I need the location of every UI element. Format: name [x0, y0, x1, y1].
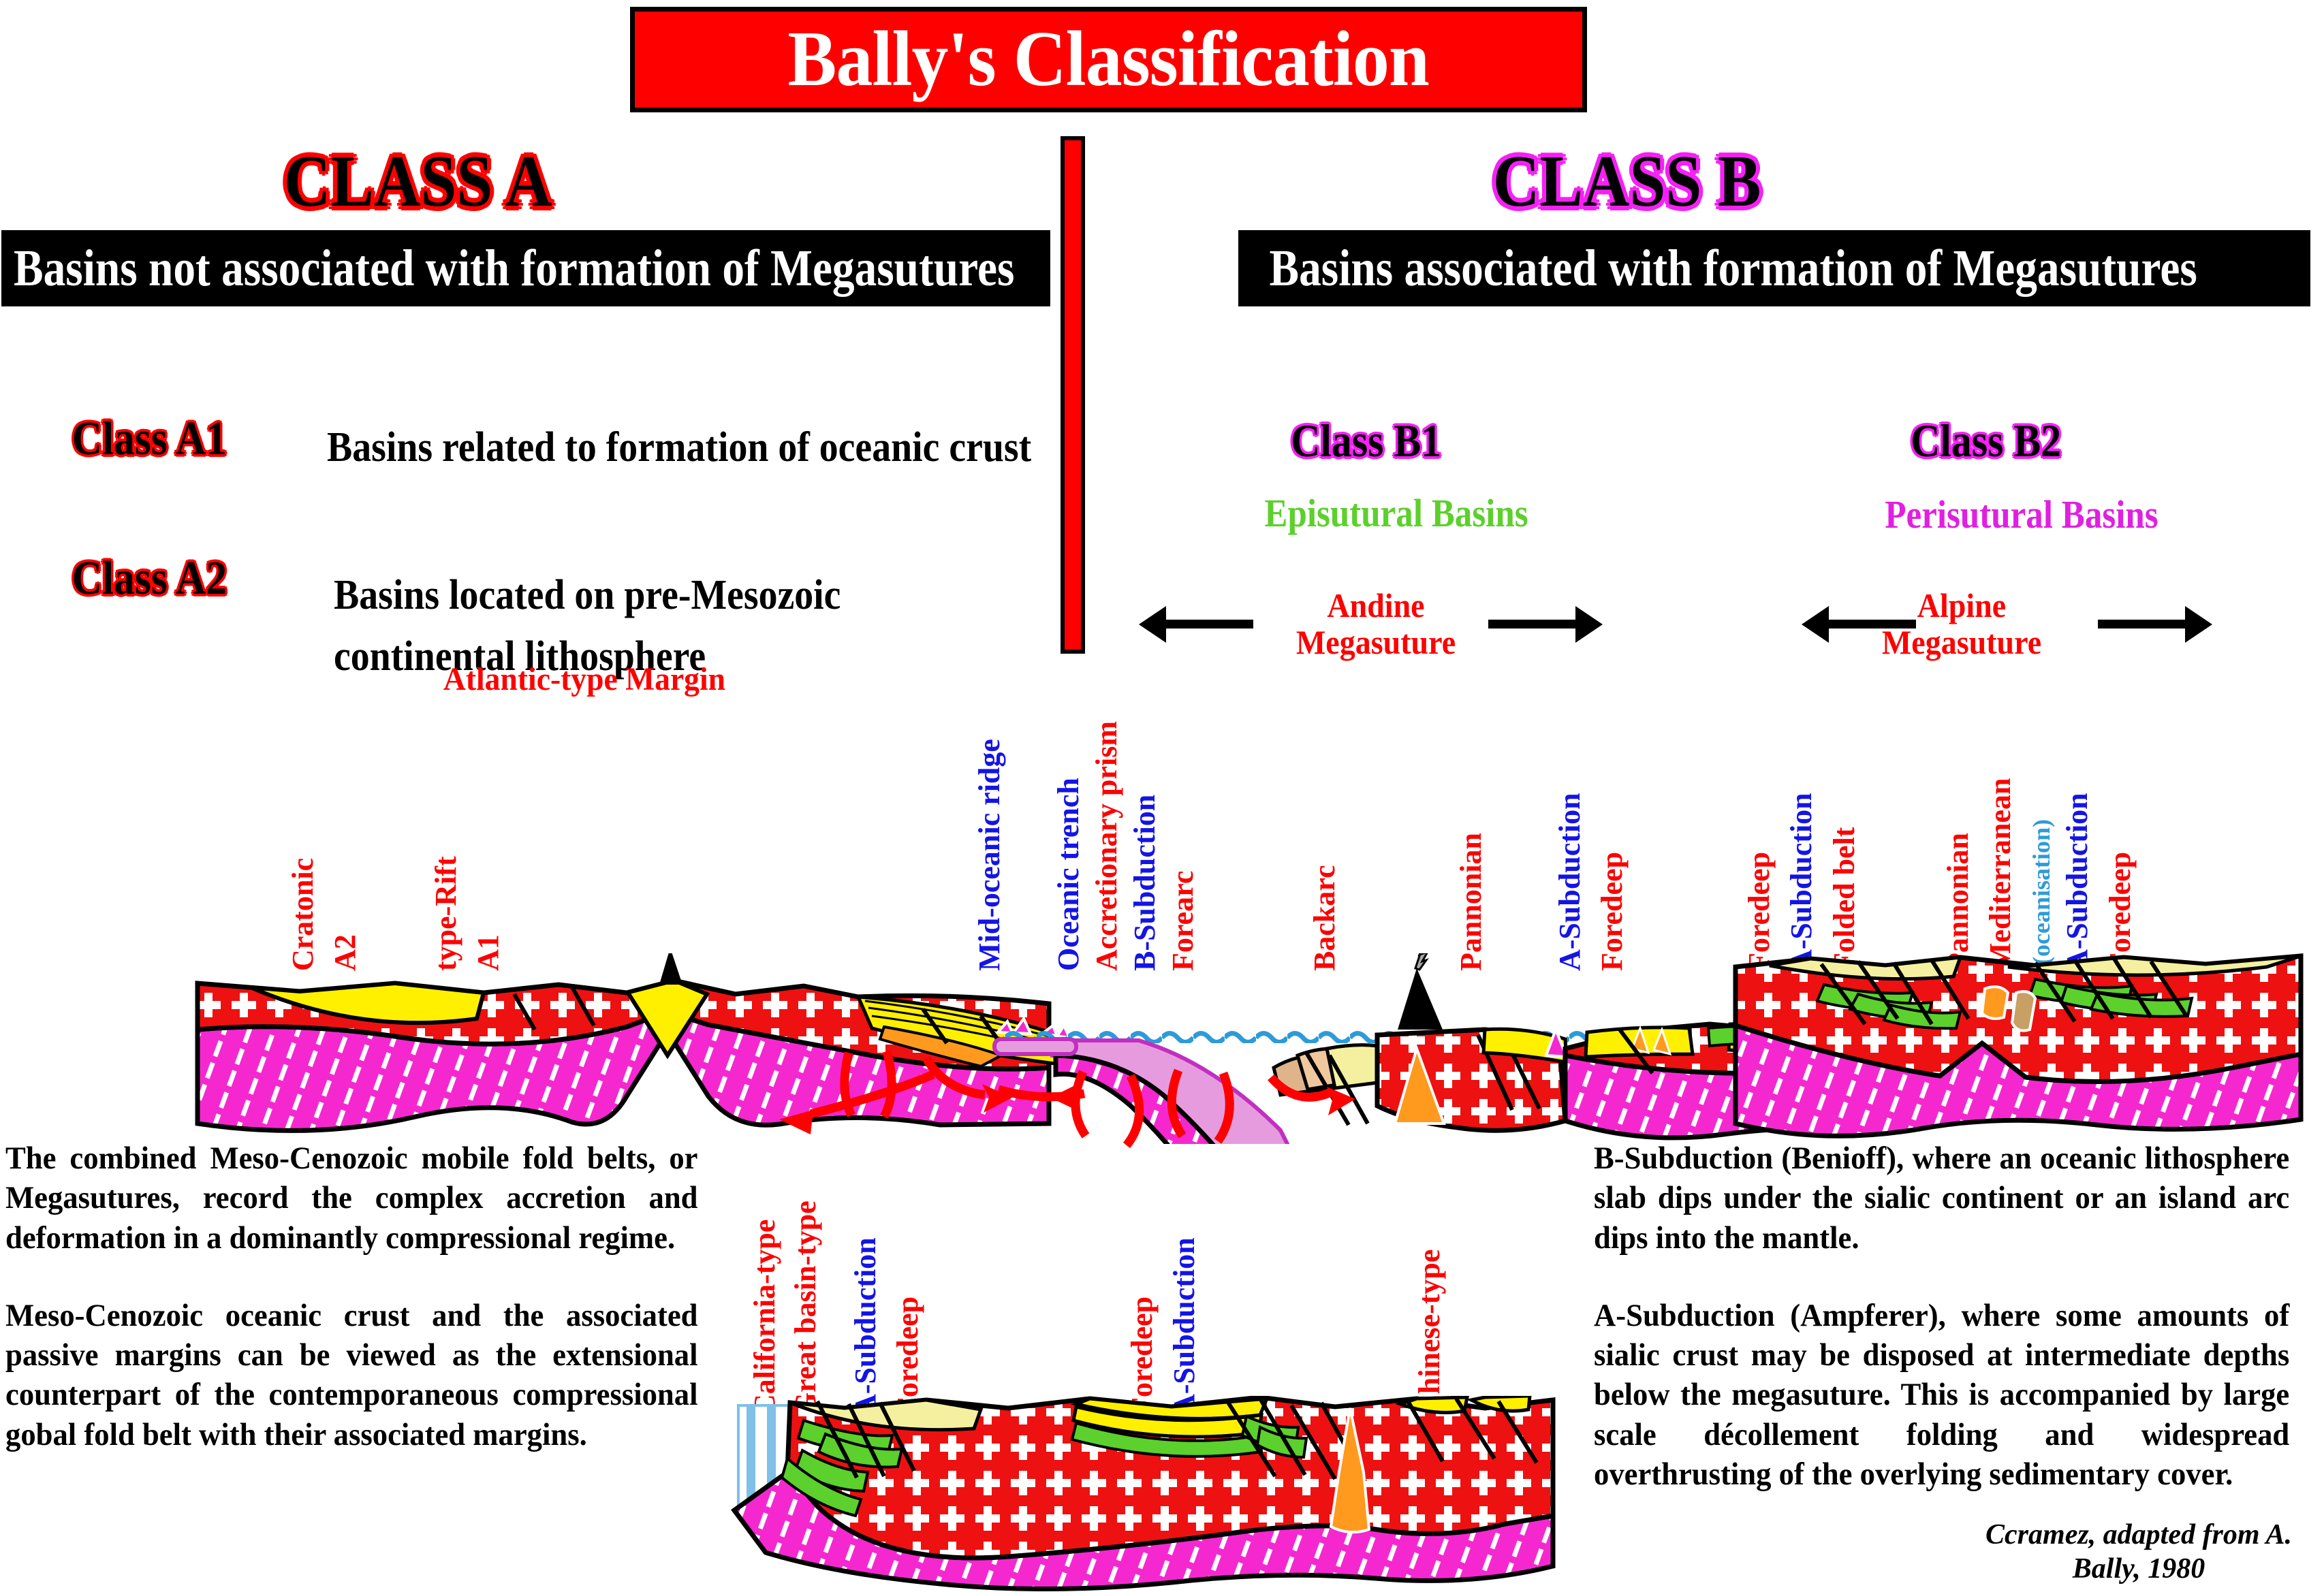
cross-section-bottom [722, 1396, 1560, 1592]
andine-line2: Megasuture [1263, 624, 1488, 660]
label-b-subduction: B-Subduction [1127, 795, 1162, 971]
alpine-line2: Megasuture [1849, 624, 2074, 660]
class-b-description-text: Basins associated with formation of Mega… [1251, 239, 2197, 298]
label-california-type: California-type [747, 1220, 782, 1416]
label-chinese-type: Chinese-type [1412, 1249, 1447, 1416]
left-text-block: The combined Meso-Cenozoic mobile fold b… [5, 1139, 698, 1454]
class-b-description-bar: Basins associated with formation of Mega… [1238, 230, 2310, 306]
class-b-heading: CLASS B [1493, 140, 1761, 224]
class-b1-subtitle: Episutural Basins [1264, 490, 1528, 536]
label-pannonian-b1: Pannonian [1454, 833, 1488, 971]
label-a-subduction-b2-right: A-Subduction [2060, 793, 2094, 971]
class-a2-tag: Class A2 [72, 552, 227, 606]
class-a1-tag: Class A1 [72, 412, 227, 466]
section-divider-bar [1061, 136, 1085, 654]
label-folded-belt: Folded belt [1827, 827, 1862, 971]
left-paragraph-1: The combined Meso-Cenozoic mobile fold b… [5, 1139, 698, 1258]
label-oceanisation: (oceanisation) [2027, 819, 2056, 965]
label-oceanic-trench: Oceanic trench [1051, 778, 1086, 971]
panel-class-b2 [1736, 956, 2301, 1136]
page-title: Bally's Classification [788, 14, 1430, 105]
andine-megasuture-label: Andine Megasuture [1263, 587, 1488, 660]
label-mid-oceanic-ridge: Mid-oceanic ridge [972, 739, 1007, 971]
title-banner: Bally's Classification [630, 7, 1587, 112]
left-paragraph-2: Meso-Cenozoic oceanic crust and the asso… [5, 1296, 698, 1454]
asthenosphere-flow-arrow [770, 1062, 947, 1144]
right-paragraph-1: B-Subduction (Benioff), where an oceanic… [1594, 1139, 2289, 1258]
label-mediterranean: Mediterranean [1983, 778, 2017, 971]
right-paragraph-2: A-Subduction (Ampferer), where some amou… [1594, 1296, 2289, 1494]
class-b1-tag: Class B1 [1291, 414, 1441, 468]
class-b2-subtitle: Perisutural Basins [1885, 492, 2158, 537]
right-text-block: B-Subduction (Benioff), where an oceanic… [1594, 1139, 2289, 1494]
class-a-description-text: Basins not associated with formation of … [14, 239, 1014, 298]
label-a-subduction-bot-1: A-Subduction [848, 1237, 883, 1416]
label-accretionary-prism: Accretionary prism [1089, 721, 1124, 971]
class-a-heading: CLASS A [284, 140, 552, 224]
label-a-subduction-b1: A-Subduction [1552, 793, 1587, 971]
label-atlantic-type-margin: Atlantic-type Margin [443, 660, 725, 698]
class-a-description-bar: Basins not associated with formation of … [1, 230, 1050, 306]
label-a-subduction-bot-2: A-Subduction [1167, 1237, 1202, 1416]
credit-line: Ccramez, adapted from A. Bally, 1980 [1975, 1518, 2302, 1586]
andine-line1: Andine [1263, 587, 1488, 624]
label-pannonian-b2: Pannonian [1941, 833, 1975, 971]
alpine-line1: Alpine [1849, 587, 2074, 624]
class-a1-description: Basins related to formation of oceanic c… [327, 424, 1038, 472]
label-great-basin-type: Great basin-type [788, 1200, 823, 1416]
class-b2-tag: Class B2 [1911, 414, 2061, 468]
label-a-subduction-b2-left: A-Subduction [1784, 793, 1819, 971]
